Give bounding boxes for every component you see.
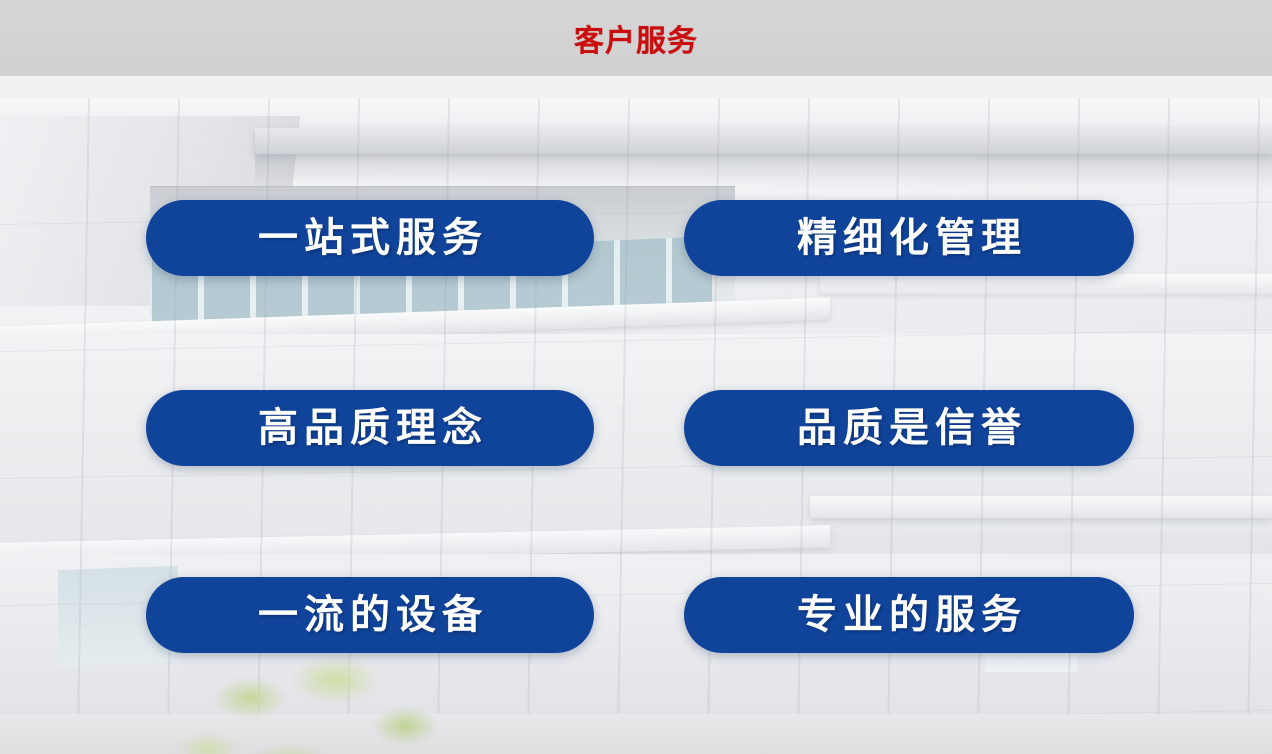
page-title: 客户服务 [574,16,698,60]
feature-pill-label: 一流的设备 [252,595,488,635]
hero-banner: 一站式服务 精细化管理 高品质理念 品质是信誉 一流的设备 专业的服务 [0,98,1272,754]
feature-pill-high-quality-concept[interactable]: 高品质理念 [146,390,594,466]
feature-pill-label: 精细化管理 [791,218,1027,258]
feature-pill-first-class-equipment[interactable]: 一流的设备 [146,577,594,653]
page-root: 客户服务 [0,0,1272,754]
feature-pill-one-stop-service[interactable]: 一站式服务 [146,200,594,276]
feature-pill-professional-service[interactable]: 专业的服务 [684,577,1134,653]
header-divider [0,76,1272,98]
feature-pill-label: 高品质理念 [252,408,488,448]
page-header-bar: 客户服务 [0,0,1272,76]
feature-pill-label: 品质是信誉 [791,408,1027,448]
feature-pill-label: 一站式服务 [252,218,488,258]
feature-pill-quality-is-reputation[interactable]: 品质是信誉 [684,390,1134,466]
feature-pill-grid: 一站式服务 精细化管理 高品质理念 品质是信誉 一流的设备 专业的服务 [0,98,1272,754]
feature-pill-refined-management[interactable]: 精细化管理 [684,200,1134,276]
feature-pill-label: 专业的服务 [791,595,1027,635]
